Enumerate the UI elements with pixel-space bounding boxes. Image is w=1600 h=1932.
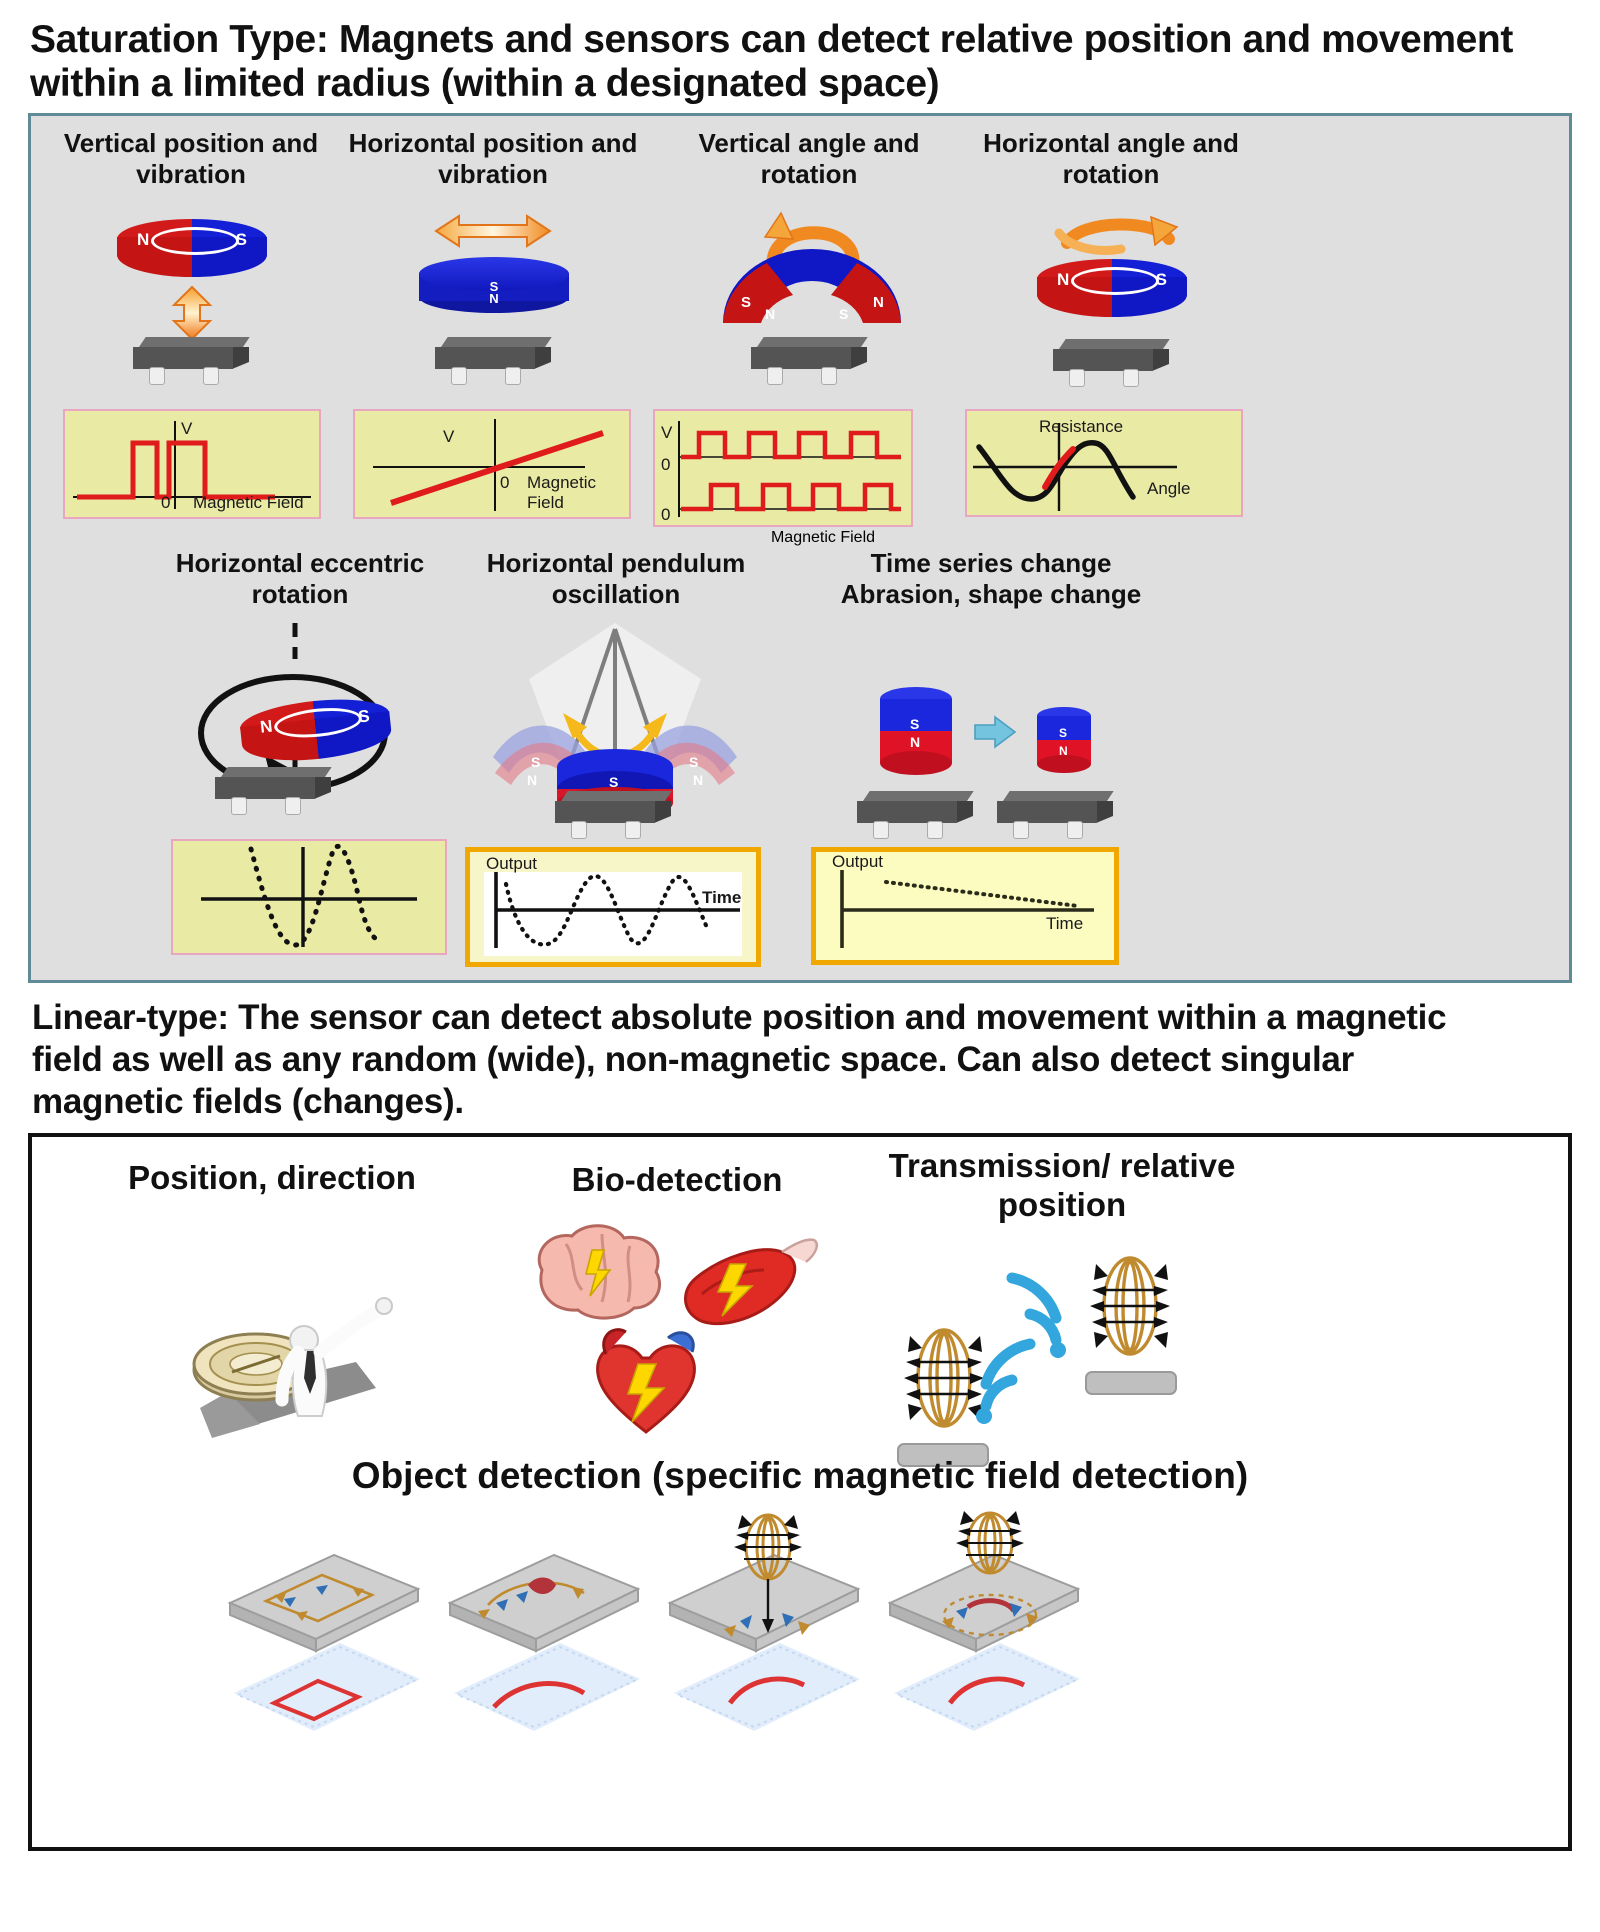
- saturation-heading: Saturation Type: Magnets and sensors can…: [30, 18, 1570, 105]
- chart-vertical-position: V 0 Magnetic Field: [63, 409, 321, 519]
- chart-origin-label: 0: [161, 493, 170, 513]
- pole-label-n: N: [259, 716, 273, 737]
- cell-title: Horizontal angle and rotation: [961, 128, 1261, 188]
- pole-label-s: S: [357, 706, 370, 727]
- svg-text:S: S: [741, 294, 751, 311]
- cell-horizontal-position: Horizontal position and vibration S N: [343, 128, 643, 518]
- saturation-panel: Vertical position and vibration N S: [28, 113, 1572, 983]
- cell-pendulum-oscillation: Horizontal pendulum oscillation S N: [451, 548, 781, 966]
- hall-sensor-icon: [435, 337, 555, 383]
- svg-text:S: S: [1059, 726, 1067, 740]
- disc-magnet-blue: S N: [419, 257, 569, 313]
- hall-sensor-icon: [215, 767, 335, 813]
- chart-origin-label-1: 0: [661, 455, 670, 475]
- panel-title: Position, direction: [72, 1159, 472, 1197]
- hall-sensor-icon: [1053, 339, 1173, 385]
- ring-magnet-red-blue: N S: [117, 219, 267, 281]
- hall-sensor-icon: [555, 791, 675, 837]
- chart-horizontal-position: V 0 Magnetic Field: [353, 409, 631, 519]
- hall-sensor-icon: [857, 791, 977, 837]
- chart-y-label: Output: [486, 854, 537, 874]
- svg-text:S: S: [531, 754, 540, 770]
- svg-text:N: N: [873, 294, 884, 311]
- chart-pendulum: Output Time: [465, 847, 761, 967]
- chart-horizontal-angle: Resistance Angle: [965, 409, 1243, 517]
- vertical-double-arrow-icon: [162, 285, 222, 341]
- cell-vertical-position: Vertical position and vibration N S: [41, 128, 341, 518]
- svg-text:S: S: [609, 774, 618, 790]
- hall-sensor-icon: [133, 337, 253, 383]
- chart-x-label: Magnetic Field: [687, 529, 959, 547]
- chart-y-label: Resistance: [1039, 417, 1123, 437]
- horizontal-rotation-arrow-icon: [1051, 211, 1181, 257]
- hall-sensor-icon: [751, 337, 871, 383]
- chart-origin-label-2: 0: [661, 505, 670, 525]
- object-detection-title: Object detection (specific magnetic fiel…: [32, 1455, 1568, 1497]
- chart-vertical-angle: V 0 0: [653, 409, 913, 527]
- svg-text:N: N: [527, 772, 537, 788]
- chart-x-label: Magnetic Field: [527, 473, 629, 513]
- arched-magnet: S N N S: [717, 245, 907, 325]
- panel-bio-detection: Bio-detection: [482, 1161, 872, 1449]
- ring-magnet-red-blue: N S: [1037, 259, 1187, 321]
- cylinder-magnet-small: S N: [1033, 705, 1095, 782]
- phone-curved-loop: [432, 1527, 662, 1782]
- compass-and-person-icon: [72, 1198, 472, 1448]
- chart-x-label: Time: [1046, 914, 1083, 934]
- cell-title: Horizontal pendulum oscillation: [451, 548, 781, 608]
- horizontal-double-arrow-icon: [433, 211, 553, 251]
- chart-time-series: Output Time: [811, 847, 1119, 965]
- chart-x-label: Magnetic Field: [193, 493, 304, 513]
- cell-time-series-change: Time series change Abrasion, shape chang…: [821, 548, 1161, 964]
- panel-title: Transmission/ relative position: [872, 1147, 1252, 1224]
- svg-text:S: S: [910, 716, 919, 732]
- svg-text:N: N: [693, 772, 703, 788]
- chart-x-label: Angle: [1147, 479, 1190, 499]
- chart-y-label: V: [443, 427, 454, 447]
- panel-title: Bio-detection: [482, 1161, 872, 1199]
- linear-heading: Linear-type: The sensor can detect absol…: [32, 997, 1512, 1123]
- pole-label-n: N: [489, 291, 498, 306]
- svg-text:N: N: [1059, 744, 1068, 758]
- pole-label-n: N: [1057, 270, 1069, 290]
- chart-y-label: Output: [832, 852, 883, 872]
- svg-text:N: N: [765, 306, 775, 322]
- phone-rect-loop: [212, 1527, 442, 1782]
- pendulum-swing-icon: S N S N S N: [465, 615, 765, 815]
- cell-eccentric-rotation: Horizontal eccentric rotation N S: [135, 548, 465, 954]
- linear-panel: Position, direction: [28, 1133, 1572, 1851]
- hall-sensor-icon-2: [997, 791, 1117, 837]
- chart-y-label: V: [181, 419, 192, 439]
- chart-y-label: V: [661, 423, 672, 443]
- chart-x-label: Time: [702, 888, 741, 908]
- svg-text:S: S: [839, 306, 848, 322]
- cell-title: Time series change Abrasion, shape chang…: [821, 548, 1161, 608]
- phone-swirl-coil: [872, 1507, 1112, 1782]
- cell-title: Vertical position and vibration: [41, 128, 341, 188]
- pole-label-s: S: [236, 230, 247, 250]
- brain-muscle-heart-icon: [482, 1200, 872, 1450]
- svg-text:N: N: [910, 734, 920, 750]
- pole-label-s: S: [1156, 270, 1167, 290]
- phone-vertical-coil: [652, 1507, 882, 1782]
- cell-title: Horizontal position and vibration: [343, 128, 643, 188]
- coil-and-wifi-signal-icon: [872, 1224, 1252, 1474]
- right-transition-arrow-icon: [973, 715, 1017, 749]
- cell-title: Horizontal eccentric rotation: [135, 548, 465, 608]
- cell-title: Vertical angle and rotation: [659, 128, 959, 188]
- cylinder-magnet-large: S N: [875, 685, 957, 782]
- panel-transmission: Transmission/ relative position: [872, 1147, 1252, 1474]
- cell-horizontal-angle: Horizontal angle and rotation N S: [961, 128, 1261, 516]
- svg-text:S: S: [689, 754, 698, 770]
- pole-label-n: N: [137, 230, 149, 250]
- page-root: Saturation Type: Magnets and sensors can…: [0, 18, 1600, 1932]
- cell-vertical-angle: Vertical angle and rotation S N N S: [659, 128, 959, 546]
- chart-origin-label: 0: [500, 473, 509, 493]
- panel-position-direction: Position, direction: [72, 1159, 472, 1447]
- chart-eccentric-rotation: [171, 839, 447, 955]
